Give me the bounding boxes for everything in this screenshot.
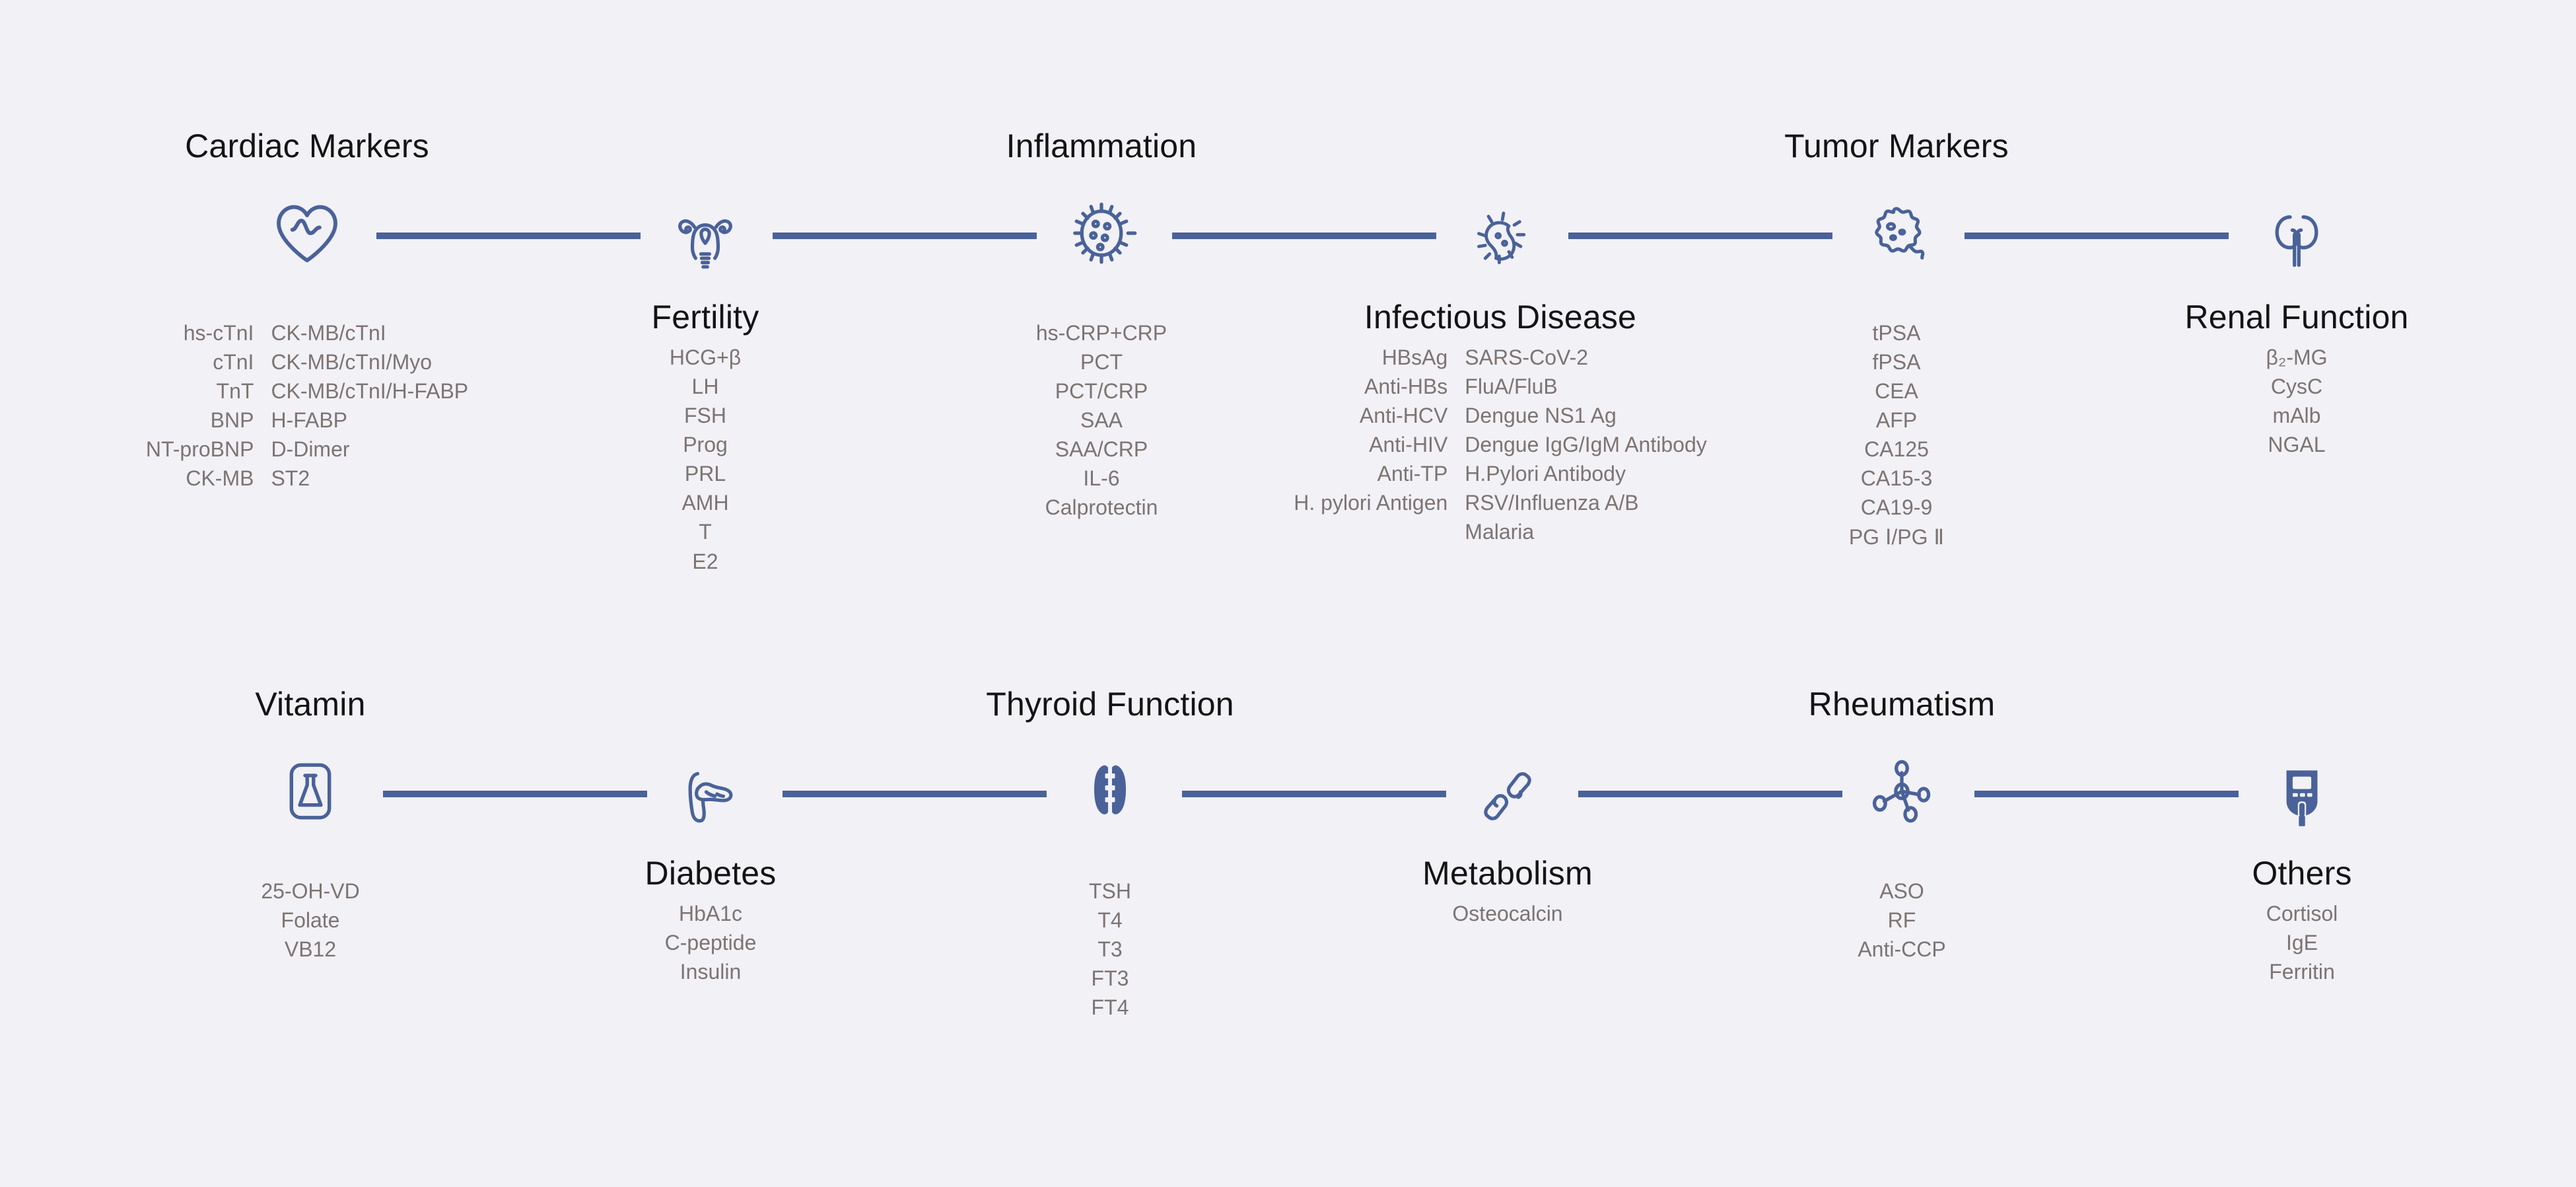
node-vitamin[interactable]: Vitamin 25-OH-VD Folate VB12 <box>125 687 495 964</box>
list-item: CA19-9 <box>1849 493 1944 522</box>
item-column: hs-CRP+CRP PCT PCT/CRP SAA SAA/CRP IL-6 … <box>1036 318 1167 522</box>
list-item: PRL <box>670 459 741 488</box>
list-item: Calprotectin <box>1036 493 1167 522</box>
node-items: hs-CRP+CRP PCT PCT/CRP SAA SAA/CRP IL-6 … <box>1036 318 1167 522</box>
list-item: H.Pylori Antibody <box>1465 459 1706 488</box>
node-items: HbA1c C-peptide Insulin <box>665 899 757 986</box>
list-item: Anti-HCV <box>1294 401 1447 430</box>
node-title: Renal Function <box>2184 300 2408 335</box>
list-item: HbA1c <box>665 899 757 928</box>
node-items: HBsAg Anti-HBs Anti-HCV Anti-HIV Anti-TP… <box>1294 343 1706 547</box>
list-item: SAA <box>1036 406 1167 435</box>
list-item: D-Dimer <box>271 435 468 464</box>
list-item: CysC <box>2266 372 2327 401</box>
list-item: RF <box>1858 906 1945 935</box>
heart-pulse-icon <box>258 184 357 283</box>
node-diabetes[interactable]: Diabetes HbA1c C-peptide Insulin <box>526 748 895 986</box>
list-item: FT3 <box>1089 964 1131 993</box>
list-item: PCT/CRP <box>1036 377 1167 406</box>
list-item: Osteocalcin <box>1452 899 1562 928</box>
list-item: PCT <box>1036 347 1167 377</box>
list-item: C-peptide <box>665 928 757 957</box>
item-column: hs-cTnI cTnI TnT BNP NT-proBNP CK-MB <box>146 318 254 493</box>
list-item: hs-CRP+CRP <box>1036 318 1167 347</box>
list-item: HBsAg <box>1294 343 1447 372</box>
node-items: 25-OH-VD Folate VB12 <box>261 877 359 964</box>
list-item: Malaria <box>1465 517 1706 546</box>
list-item: CA15-3 <box>1849 464 1944 493</box>
list-item: CK-MB <box>146 464 254 493</box>
list-item: TnT <box>146 377 254 406</box>
node-title: Cardiac Markers <box>185 129 429 164</box>
node-title: Infectious Disease <box>1364 300 1636 335</box>
list-item: T3 <box>1089 935 1131 964</box>
node-renal-function[interactable]: Renal Function β₂-MG CysC mAlb NGAL <box>2112 192 2482 459</box>
item-column: β₂-MG CysC mAlb NGAL <box>2266 343 2327 460</box>
list-item: hs-cTnI <box>146 318 254 347</box>
item-column: Osteocalcin <box>1452 899 1562 928</box>
node-items: ASO RF Anti-CCP <box>1858 877 1945 964</box>
glucometer-icon <box>2252 748 2351 847</box>
list-item: 25-OH-VD <box>261 877 359 906</box>
list-item: SAA/CRP <box>1036 435 1167 464</box>
node-title: Metabolism <box>1422 856 1593 891</box>
item-column: HCG+β LH FSH Prog PRL AMH T E2 <box>670 343 741 576</box>
molecule-icon <box>1852 742 1951 841</box>
node-rheumatism[interactable]: Rheumatism ASO RF Anti-CCP <box>1717 687 2087 964</box>
list-item: CK-MB/cTnI/Myo <box>271 347 468 377</box>
list-item: fPSA <box>1849 347 1944 377</box>
list-item: Anti-HBs <box>1294 372 1447 401</box>
item-column: Cortisol IgE Ferritin <box>2266 899 2338 986</box>
list-item: CEA <box>1849 377 1944 406</box>
list-item: tPSA <box>1849 318 1944 347</box>
list-item: IgE <box>2266 928 2338 957</box>
list-item: LH <box>670 372 741 401</box>
list-item: cTnI <box>146 347 254 377</box>
list-item: NT-proBNP <box>146 435 254 464</box>
kidney-icon <box>2247 192 2346 291</box>
bacteria-icon <box>1451 192 1550 291</box>
node-items: TSH T4 T3 FT3 FT4 <box>1089 877 1131 1023</box>
list-item: Dengue NS1 Ag <box>1465 401 1706 430</box>
list-item: Anti-HIV <box>1294 430 1447 459</box>
thyroid-icon <box>1061 742 1160 841</box>
node-title: Others <box>2252 856 2351 891</box>
list-item: HCG+β <box>670 343 741 372</box>
list-item: RSV/Influenza A/B <box>1465 488 1706 517</box>
list-item: AMH <box>670 488 741 517</box>
node-items: hs-cTnI cTnI TnT BNP NT-proBNP CK-MB CK-… <box>146 318 468 493</box>
list-item: E2 <box>670 547 741 576</box>
list-item: H-FABP <box>271 406 468 435</box>
list-item: IL-6 <box>1036 464 1167 493</box>
list-item: PG Ⅰ/PG Ⅱ <box>1849 522 1944 552</box>
list-item: SARS-CoV-2 <box>1465 343 1706 372</box>
list-item: FT4 <box>1089 993 1131 1022</box>
list-item: NGAL <box>2266 430 2327 459</box>
list-item: β₂-MG <box>2266 343 2327 372</box>
node-title: Tumor Markers <box>1784 129 2009 164</box>
node-infectious-disease[interactable]: Infectious Disease HBsAg Anti-HBs Anti-H… <box>1315 192 1685 547</box>
tumor-cell-icon <box>1847 184 1946 283</box>
list-item: Anti-TP <box>1294 459 1447 488</box>
item-column: HBsAg Anti-HBs Anti-HCV Anti-HIV Anti-TP… <box>1294 343 1447 547</box>
node-metabolism[interactable]: Metabolism Osteocalcin <box>1323 748 1692 928</box>
list-item: BNP <box>146 406 254 435</box>
virus-icon <box>1052 184 1151 283</box>
item-column: TSH T4 T3 FT3 FT4 <box>1089 877 1131 1023</box>
item-column: HbA1c C-peptide Insulin <box>665 899 757 986</box>
item-column: 25-OH-VD Folate VB12 <box>261 877 359 964</box>
list-item: T <box>670 517 741 546</box>
list-item: ASO <box>1858 877 1945 906</box>
node-inflammation[interactable]: Inflammation hs-CRP+CRP PCT PCT/CRP SAA <box>917 129 1286 522</box>
item-column: ASO RF Anti-CCP <box>1858 877 1945 964</box>
list-item: CA125 <box>1849 435 1944 464</box>
item-column: CK-MB/cTnI CK-MB/cTnI/Myo CK-MB/cTnI/H-F… <box>271 318 468 493</box>
list-item: ST2 <box>271 464 468 493</box>
list-item: TSH <box>1089 877 1131 906</box>
list-item: AFP <box>1849 406 1944 435</box>
node-items: Cortisol IgE Ferritin <box>2266 899 2338 986</box>
list-item: Prog <box>670 430 741 459</box>
list-item: Folate <box>261 906 359 935</box>
item-column: SARS-CoV-2 FluA/FluB Dengue NS1 Ag Dengu… <box>1465 343 1706 547</box>
node-fertility[interactable]: Fertility HCG+β LH FSH Prog PRL AMH T E2 <box>520 192 890 576</box>
list-item: Anti-CCP <box>1858 935 1945 964</box>
list-item: CK-MB/cTnI/H-FABP <box>271 377 468 406</box>
list-item: mAlb <box>2266 401 2327 430</box>
node-title: Fertility <box>652 300 759 335</box>
node-items: HCG+β LH FSH Prog PRL AMH T E2 <box>670 343 741 576</box>
node-title: Vitamin <box>255 687 365 722</box>
node-title: Thyroid Function <box>986 687 1234 722</box>
node-thyroid-function[interactable]: Thyroid Function TSH T4 T3 FT3 FT4 <box>925 687 1295 1022</box>
infographic-canvas: Cardiac Markers hs-cTnI cTnI TnT BNP NT-… <box>0 0 2576 1187</box>
node-title: Inflammation <box>1006 129 1197 164</box>
node-items: tPSA fPSA CEA AFP CA125 CA15-3 CA19-9 PG… <box>1849 318 1944 552</box>
list-item: T4 <box>1089 906 1131 935</box>
node-items: Osteocalcin <box>1452 899 1562 928</box>
list-item: H. pylori Antigen <box>1294 488 1447 517</box>
flask-icon <box>261 742 360 841</box>
node-title: Diabetes <box>645 856 777 891</box>
node-items: β₂-MG CysC mAlb NGAL <box>2266 343 2327 460</box>
list-item: CK-MB/cTnI <box>271 318 468 347</box>
list-item: FluA/FluB <box>1465 372 1706 401</box>
list-item: Dengue IgG/IgM Antibody <box>1465 430 1706 459</box>
node-title: Rheumatism <box>1809 687 1996 722</box>
uterus-icon <box>656 192 755 291</box>
node-others[interactable]: Others Cortisol IgE Ferritin <box>2117 748 2487 986</box>
node-tumor-markers[interactable]: Tumor Markers tPSA fPSA CEA AFP CA125 CA… <box>1712 129 2081 552</box>
list-item: Insulin <box>665 957 757 986</box>
list-item: FSH <box>670 401 741 430</box>
pancreas-icon <box>661 748 760 847</box>
bone-joint-icon <box>1458 748 1557 847</box>
list-item: Ferritin <box>2266 957 2338 986</box>
list-item: Cortisol <box>2266 899 2338 928</box>
item-column: tPSA fPSA CEA AFP CA125 CA15-3 CA19-9 PG… <box>1849 318 1944 552</box>
node-cardiac-markers[interactable]: Cardiac Markers hs-cTnI cTnI TnT BNP NT-… <box>122 129 492 493</box>
list-item: VB12 <box>261 935 359 964</box>
